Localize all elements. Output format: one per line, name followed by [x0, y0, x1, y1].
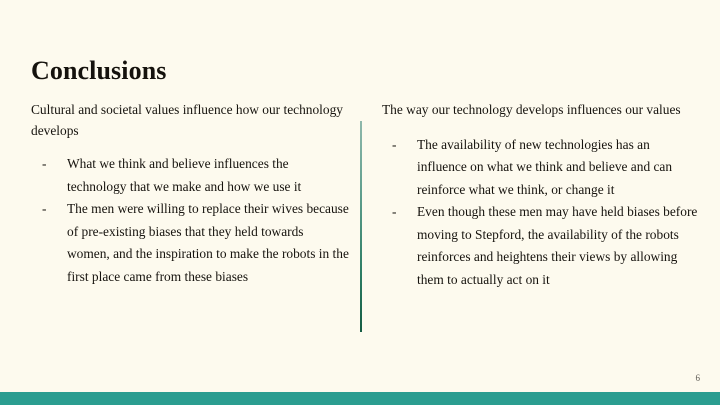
list-item: - The availability of new technologies h…: [382, 134, 700, 202]
column-left-heading: Cultural and societal values influence h…: [31, 100, 349, 141]
column-divider: [360, 121, 362, 332]
column-right-heading: The way our technology develops influenc…: [382, 100, 700, 121]
page-number: 6: [696, 373, 701, 384]
dash-bullet-icon: -: [42, 153, 46, 176]
dash-bullet-icon: -: [42, 198, 46, 221]
list-item-text: Even though these men may have held bias…: [417, 201, 700, 291]
bottom-accent-bar: [0, 392, 720, 405]
list-item-text: What we think and believe influences the…: [67, 153, 349, 198]
dash-bullet-icon: -: [392, 134, 396, 157]
slide-canvas: Conclusions Cultural and societal values…: [0, 0, 720, 405]
column-right-bullet-list: - The availability of new technologies h…: [382, 134, 700, 292]
dash-bullet-icon: -: [392, 201, 396, 224]
list-item: - Even though these men may have held bi…: [382, 201, 700, 291]
list-item-text: The men were willing to replace their wi…: [67, 198, 349, 288]
list-item: - The men were willing to replace their …: [31, 198, 349, 288]
page-title: Conclusions: [31, 56, 166, 86]
list-item-text: The availability of new technologies has…: [417, 134, 700, 202]
column-left-bullet-list: - What we think and believe influences t…: [31, 153, 349, 288]
list-item: - What we think and believe influences t…: [31, 153, 349, 198]
content-column-right: The way our technology develops influenc…: [382, 100, 700, 291]
content-column-left: Cultural and societal values influence h…: [31, 100, 349, 288]
